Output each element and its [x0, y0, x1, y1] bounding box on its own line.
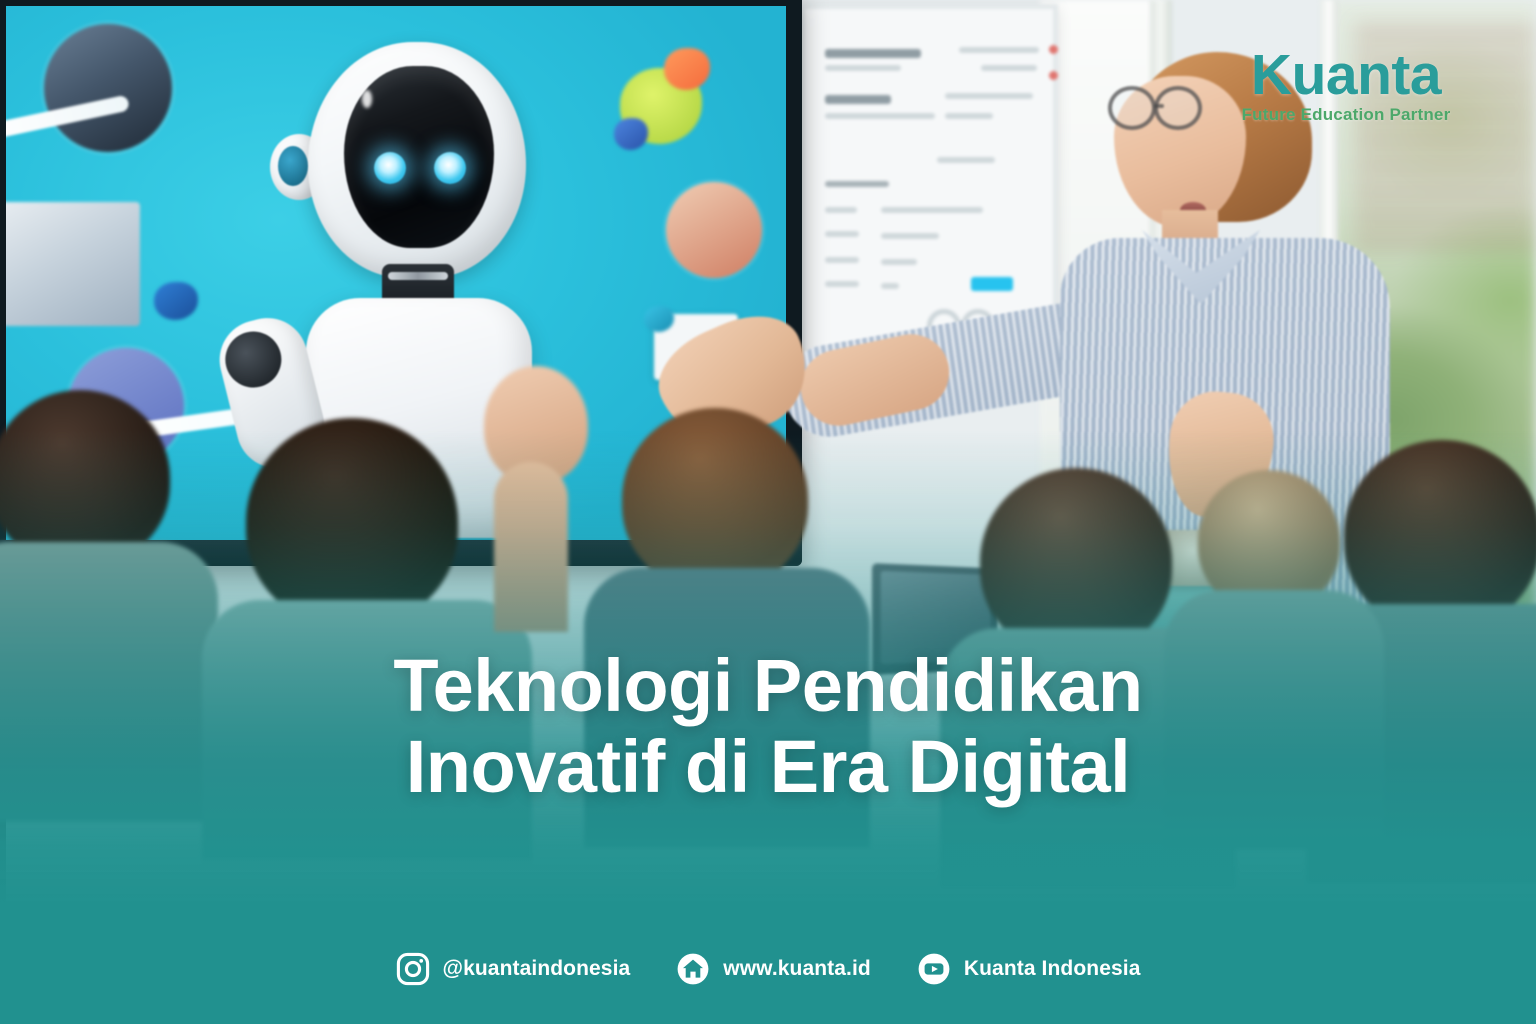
contact-bar: @kuantaindonesia www.kuanta.id Kuanta In… — [0, 952, 1536, 986]
home-icon — [676, 952, 710, 986]
contact-item-website[interactable]: www.kuanta.id — [676, 952, 871, 986]
youtube-icon — [917, 952, 951, 986]
headline-line-1: Teknologi Pendidikan — [393, 644, 1142, 727]
contact-label-website: www.kuanta.id — [723, 957, 871, 981]
screen-thumb-1 — [6, 202, 140, 326]
robot-head — [308, 42, 526, 278]
contact-label-instagram: @kuantaindonesia — [443, 957, 631, 981]
screen-caption-3 — [614, 148, 722, 165]
headline-line-2: Inovatif di Era Digital — [90, 727, 1446, 808]
screen-avatar-3 — [666, 182, 762, 278]
poster-canvas: Kuanta Future Education Partner Teknolog… — [0, 0, 1536, 1024]
screen-caption-2 — [6, 332, 134, 349]
robot-eye-right — [434, 152, 466, 184]
screen-caption-4 — [654, 288, 772, 305]
robot-eye-left — [374, 152, 406, 184]
instagram-icon — [396, 952, 430, 986]
robot-visor — [344, 66, 494, 248]
poster-headline: Teknologi Pendidikan Inovatif di Era Dig… — [0, 646, 1536, 807]
logo-tagline: Future Education Partner — [1208, 105, 1484, 125]
brand-logo: Kuanta Future Education Partner — [1208, 48, 1484, 125]
screen-blob-icon — [154, 282, 198, 320]
contact-item-instagram[interactable]: @kuantaindonesia — [396, 952, 631, 986]
contact-item-youtube[interactable]: Kuanta Indonesia — [917, 952, 1141, 986]
screen-accent-blob — [664, 48, 710, 90]
teacher-glasses-right — [1154, 86, 1202, 130]
screen-caption-1 — [50, 164, 180, 181]
wall-poster-content — [819, 21, 1039, 355]
contact-label-youtube: Kuanta Indonesia — [964, 957, 1141, 981]
logo-wordmark: Kuanta — [1208, 48, 1484, 103]
screen-small-blob — [614, 118, 648, 150]
screen-avatar-1 — [44, 24, 172, 152]
teacher-glasses-left — [1108, 86, 1156, 130]
